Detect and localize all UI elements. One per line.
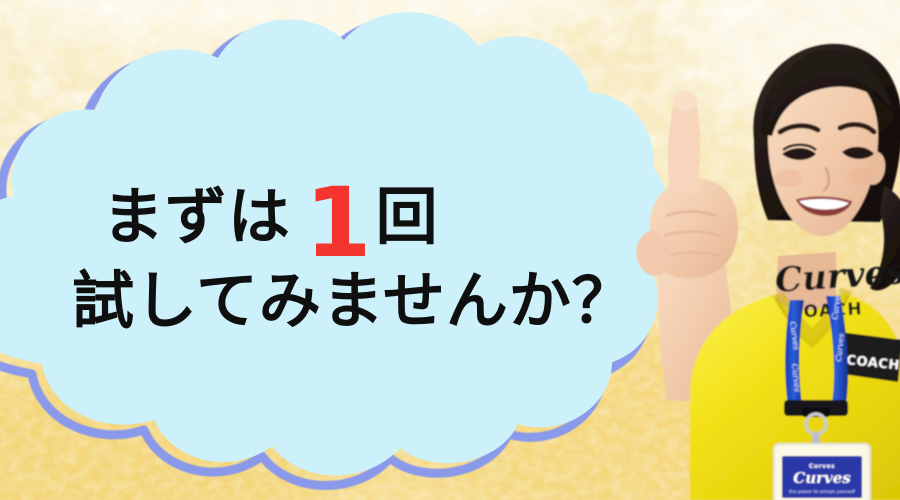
headline-line-1: まずは 1 回 [72, 178, 542, 256]
headline-line-1-suffix: 回 [376, 186, 439, 248]
headline-number-one: 1 [305, 186, 372, 261]
badge-tagline: the power to amaze yourself [789, 489, 855, 495]
coach-photo: Curves COACH COACH Curves Curves Curves … [540, 0, 900, 500]
headline-block: まずは 1 回 試してみませんか？ [72, 178, 542, 340]
badge-brand: Curves [793, 469, 851, 487]
id-badge: Curves Curves the power to amaze yoursel… [774, 444, 870, 500]
promo-banner: まずは 1 回 試してみませんか？ [0, 0, 900, 500]
headline-line-1-prefix: まずは [102, 186, 291, 248]
